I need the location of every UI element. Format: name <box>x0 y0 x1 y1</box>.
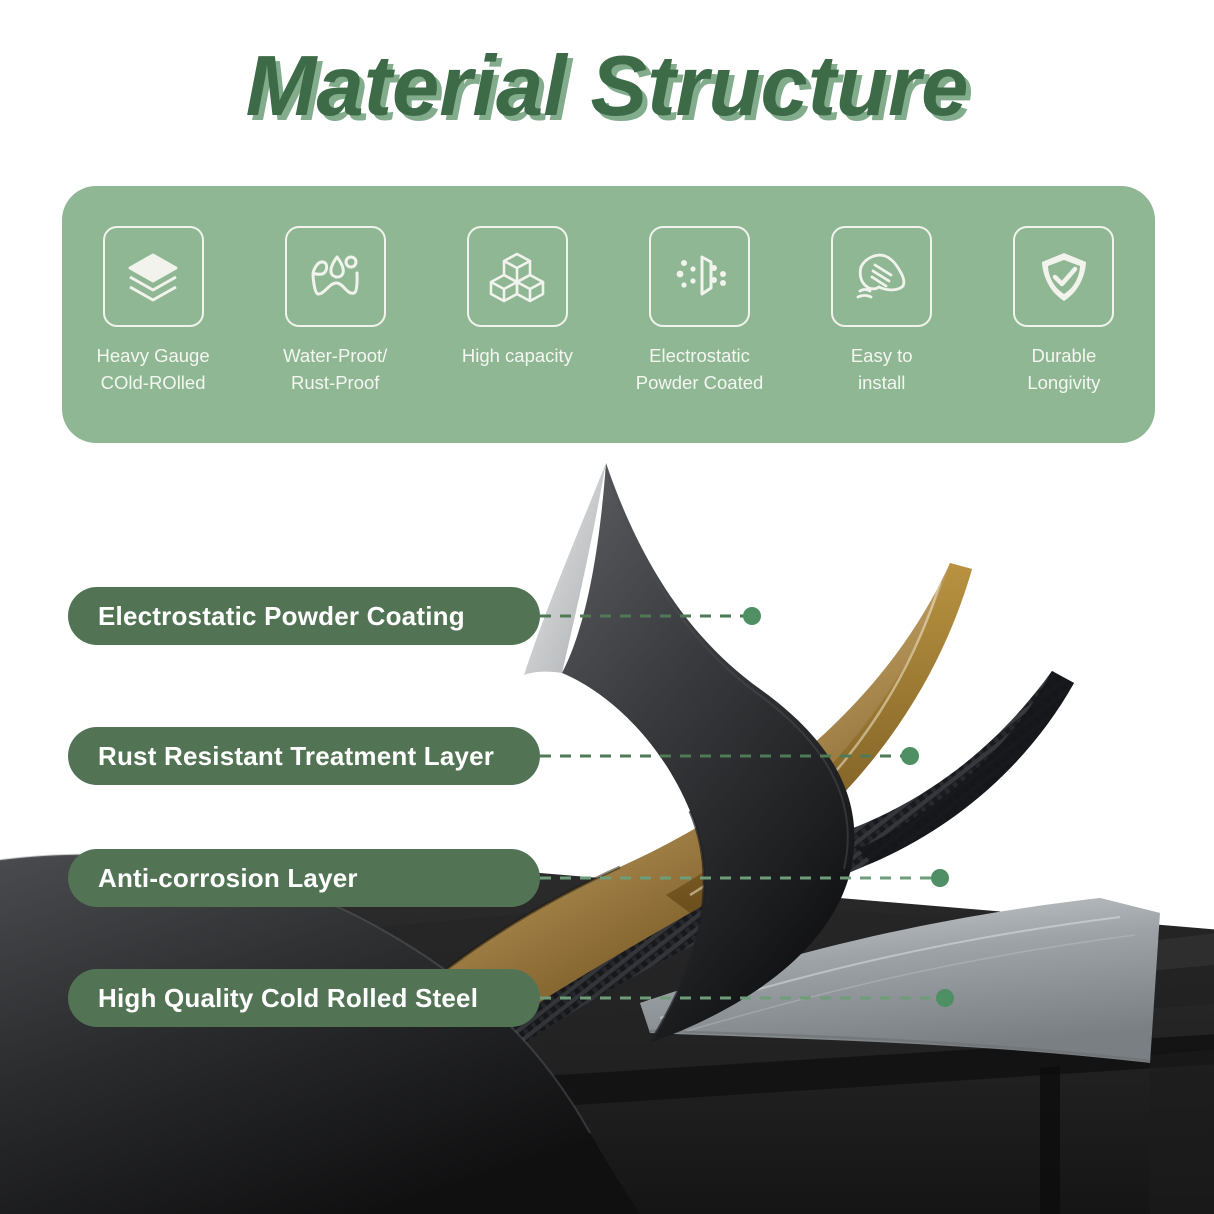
feature-label: Easy to install <box>851 343 913 397</box>
shield-check-icon <box>1035 249 1093 305</box>
feature-item-water-proof: Water-Proot/ Rust-Proof <box>253 226 418 397</box>
feature-panel: Heavy Gauge COld-ROlled Water-Proot/ R <box>62 186 1155 443</box>
feature-label: Heavy Gauge COld-ROlled <box>97 343 210 397</box>
feature-icon-box <box>831 226 932 327</box>
feature-label: Durable Longivity <box>1027 343 1100 397</box>
feature-item-easy-install: Easy to install <box>799 226 964 397</box>
page-title-container: Material Structure <box>0 44 1214 129</box>
powder-spray-icon <box>671 249 729 305</box>
hand-wipe-icon <box>853 249 911 305</box>
feature-item-high-capacity: High capacity <box>435 226 600 370</box>
callout-label: Electrostatic Powder Coating <box>98 601 465 632</box>
callout-high-quality-cold-rolled-steel[interactable]: High Quality Cold Rolled Steel <box>68 969 540 1027</box>
feature-item-durable: Durable Longivity <box>981 226 1146 397</box>
feature-label: Water-Proot/ Rust-Proof <box>283 343 387 397</box>
page-title: Material Structure <box>246 44 969 129</box>
callout-label: Anti-corrosion Layer <box>98 863 358 894</box>
callout-label: Rust Resistant Treatment Layer <box>98 741 494 772</box>
feature-list: Heavy Gauge COld-ROlled Water-Proot/ R <box>62 186 1155 443</box>
feature-icon-box <box>285 226 386 327</box>
water-drop-icon <box>306 249 364 305</box>
feature-icon-box <box>1013 226 1114 327</box>
callout-label: High Quality Cold Rolled Steel <box>98 983 478 1014</box>
feature-icon-box <box>649 226 750 327</box>
layers-icon <box>124 249 182 305</box>
callout-rust-resistant-treatment-layer[interactable]: Rust Resistant Treatment Layer <box>68 727 540 785</box>
callout-anti-corrosion-layer[interactable]: Anti-corrosion Layer <box>68 849 540 907</box>
feature-icon-box <box>103 226 204 327</box>
feature-item-powder-coated: Electrostatic Powder Coated <box>617 226 782 397</box>
callout-electrostatic-powder-coating[interactable]: Electrostatic Powder Coating <box>68 587 540 645</box>
feature-label: Electrostatic Powder Coated <box>636 343 764 397</box>
material-layers-illustration <box>0 443 1214 1214</box>
feature-item-heavy-gauge: Heavy Gauge COld-ROlled <box>71 226 236 397</box>
cubes-icon <box>488 249 546 305</box>
feature-label: High capacity <box>462 343 573 370</box>
feature-icon-box <box>467 226 568 327</box>
